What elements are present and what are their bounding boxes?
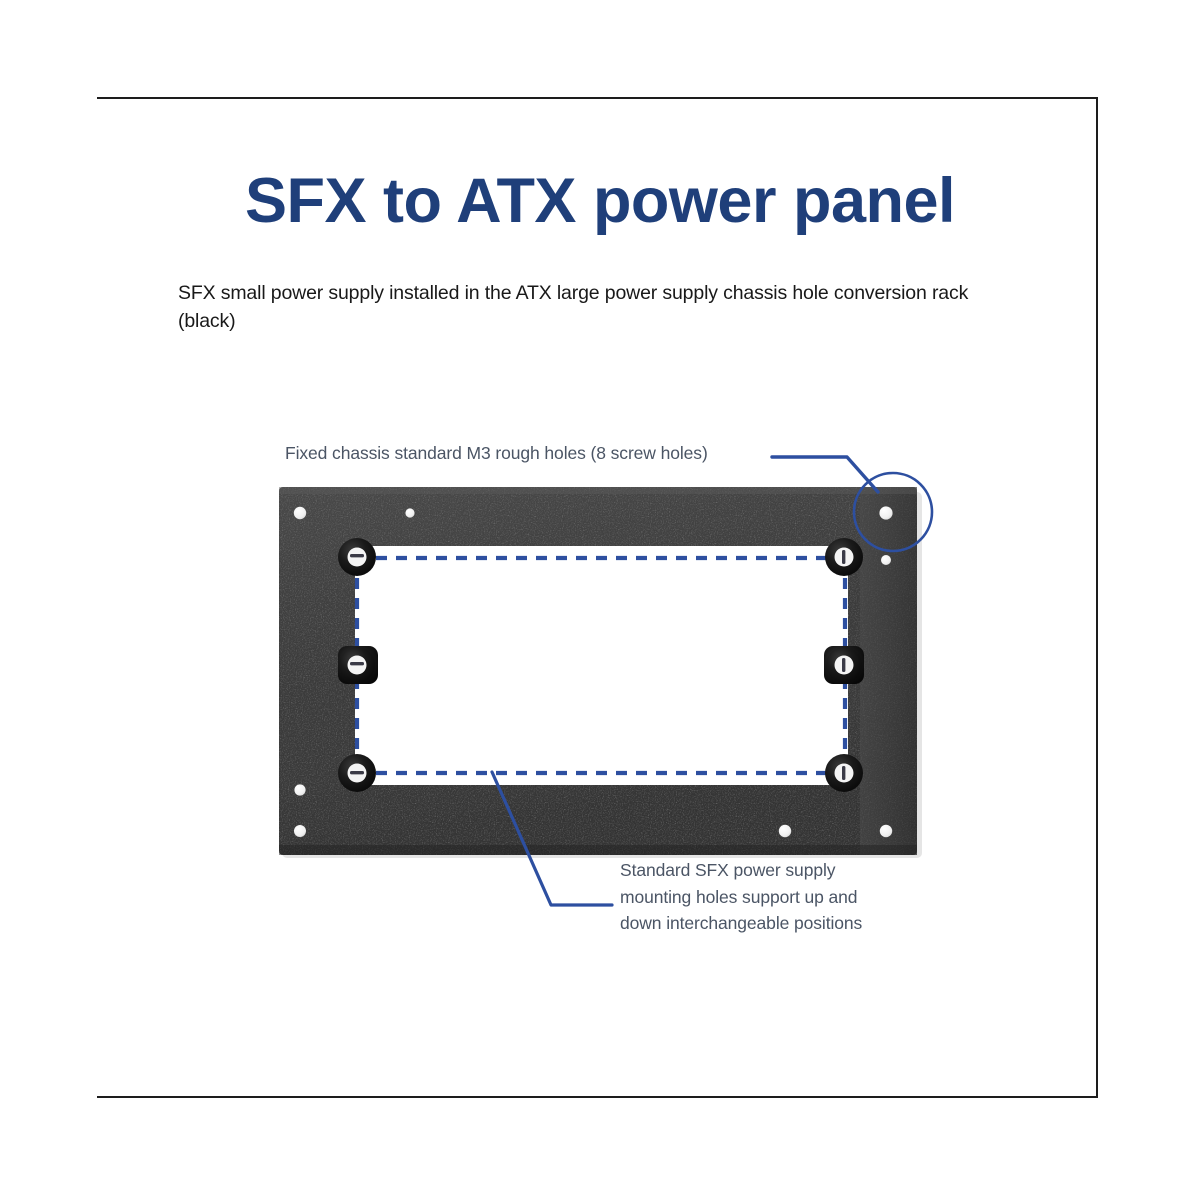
m3-hole [779,825,791,837]
m3-hole [405,508,414,517]
page-subtitle: SFX small power supply installed in the … [178,280,1018,335]
annotation-sfx-line-2: mounting holes support up and [620,884,920,911]
annotation-m3-holes: Fixed chassis standard M3 rough holes (8… [285,440,708,467]
m3-hole [880,825,892,837]
plate-shadow [282,492,922,858]
m3-hole [294,784,305,795]
page-title: SFX to ATX power panel [0,168,1200,234]
sfx-mount-holes [338,538,864,792]
annotation-sfx-line-3: down interchangeable positions [620,910,920,937]
sfx-mount-hole [825,538,863,576]
sfx-mount-hole [824,646,864,684]
sfx-mount-hole [338,646,378,684]
bracket-plate [279,487,917,855]
annotation-sfx-mounting-holes: Standard SFX power supply mounting holes… [620,857,920,937]
m3-hole [294,825,306,837]
page-border-frame [97,97,1098,1098]
m3-chassis-holes [294,506,893,837]
sfx-mount-hole [338,538,376,576]
sfx-mount-dashed-outline [356,558,846,773]
m3-hole [881,555,891,565]
leader-line-sfx-holes [492,772,612,905]
m3-hole [294,507,306,519]
sfx-mount-hole [338,754,376,792]
annotation-sfx-line-1: Standard SFX power supply [620,857,920,884]
m3-hole-highlight-circle [854,473,932,551]
sfx-cutout-window [355,546,848,785]
sfx-mount-hole [825,754,863,792]
m3-hole [879,506,892,519]
leader-line-m3-holes [772,457,878,492]
